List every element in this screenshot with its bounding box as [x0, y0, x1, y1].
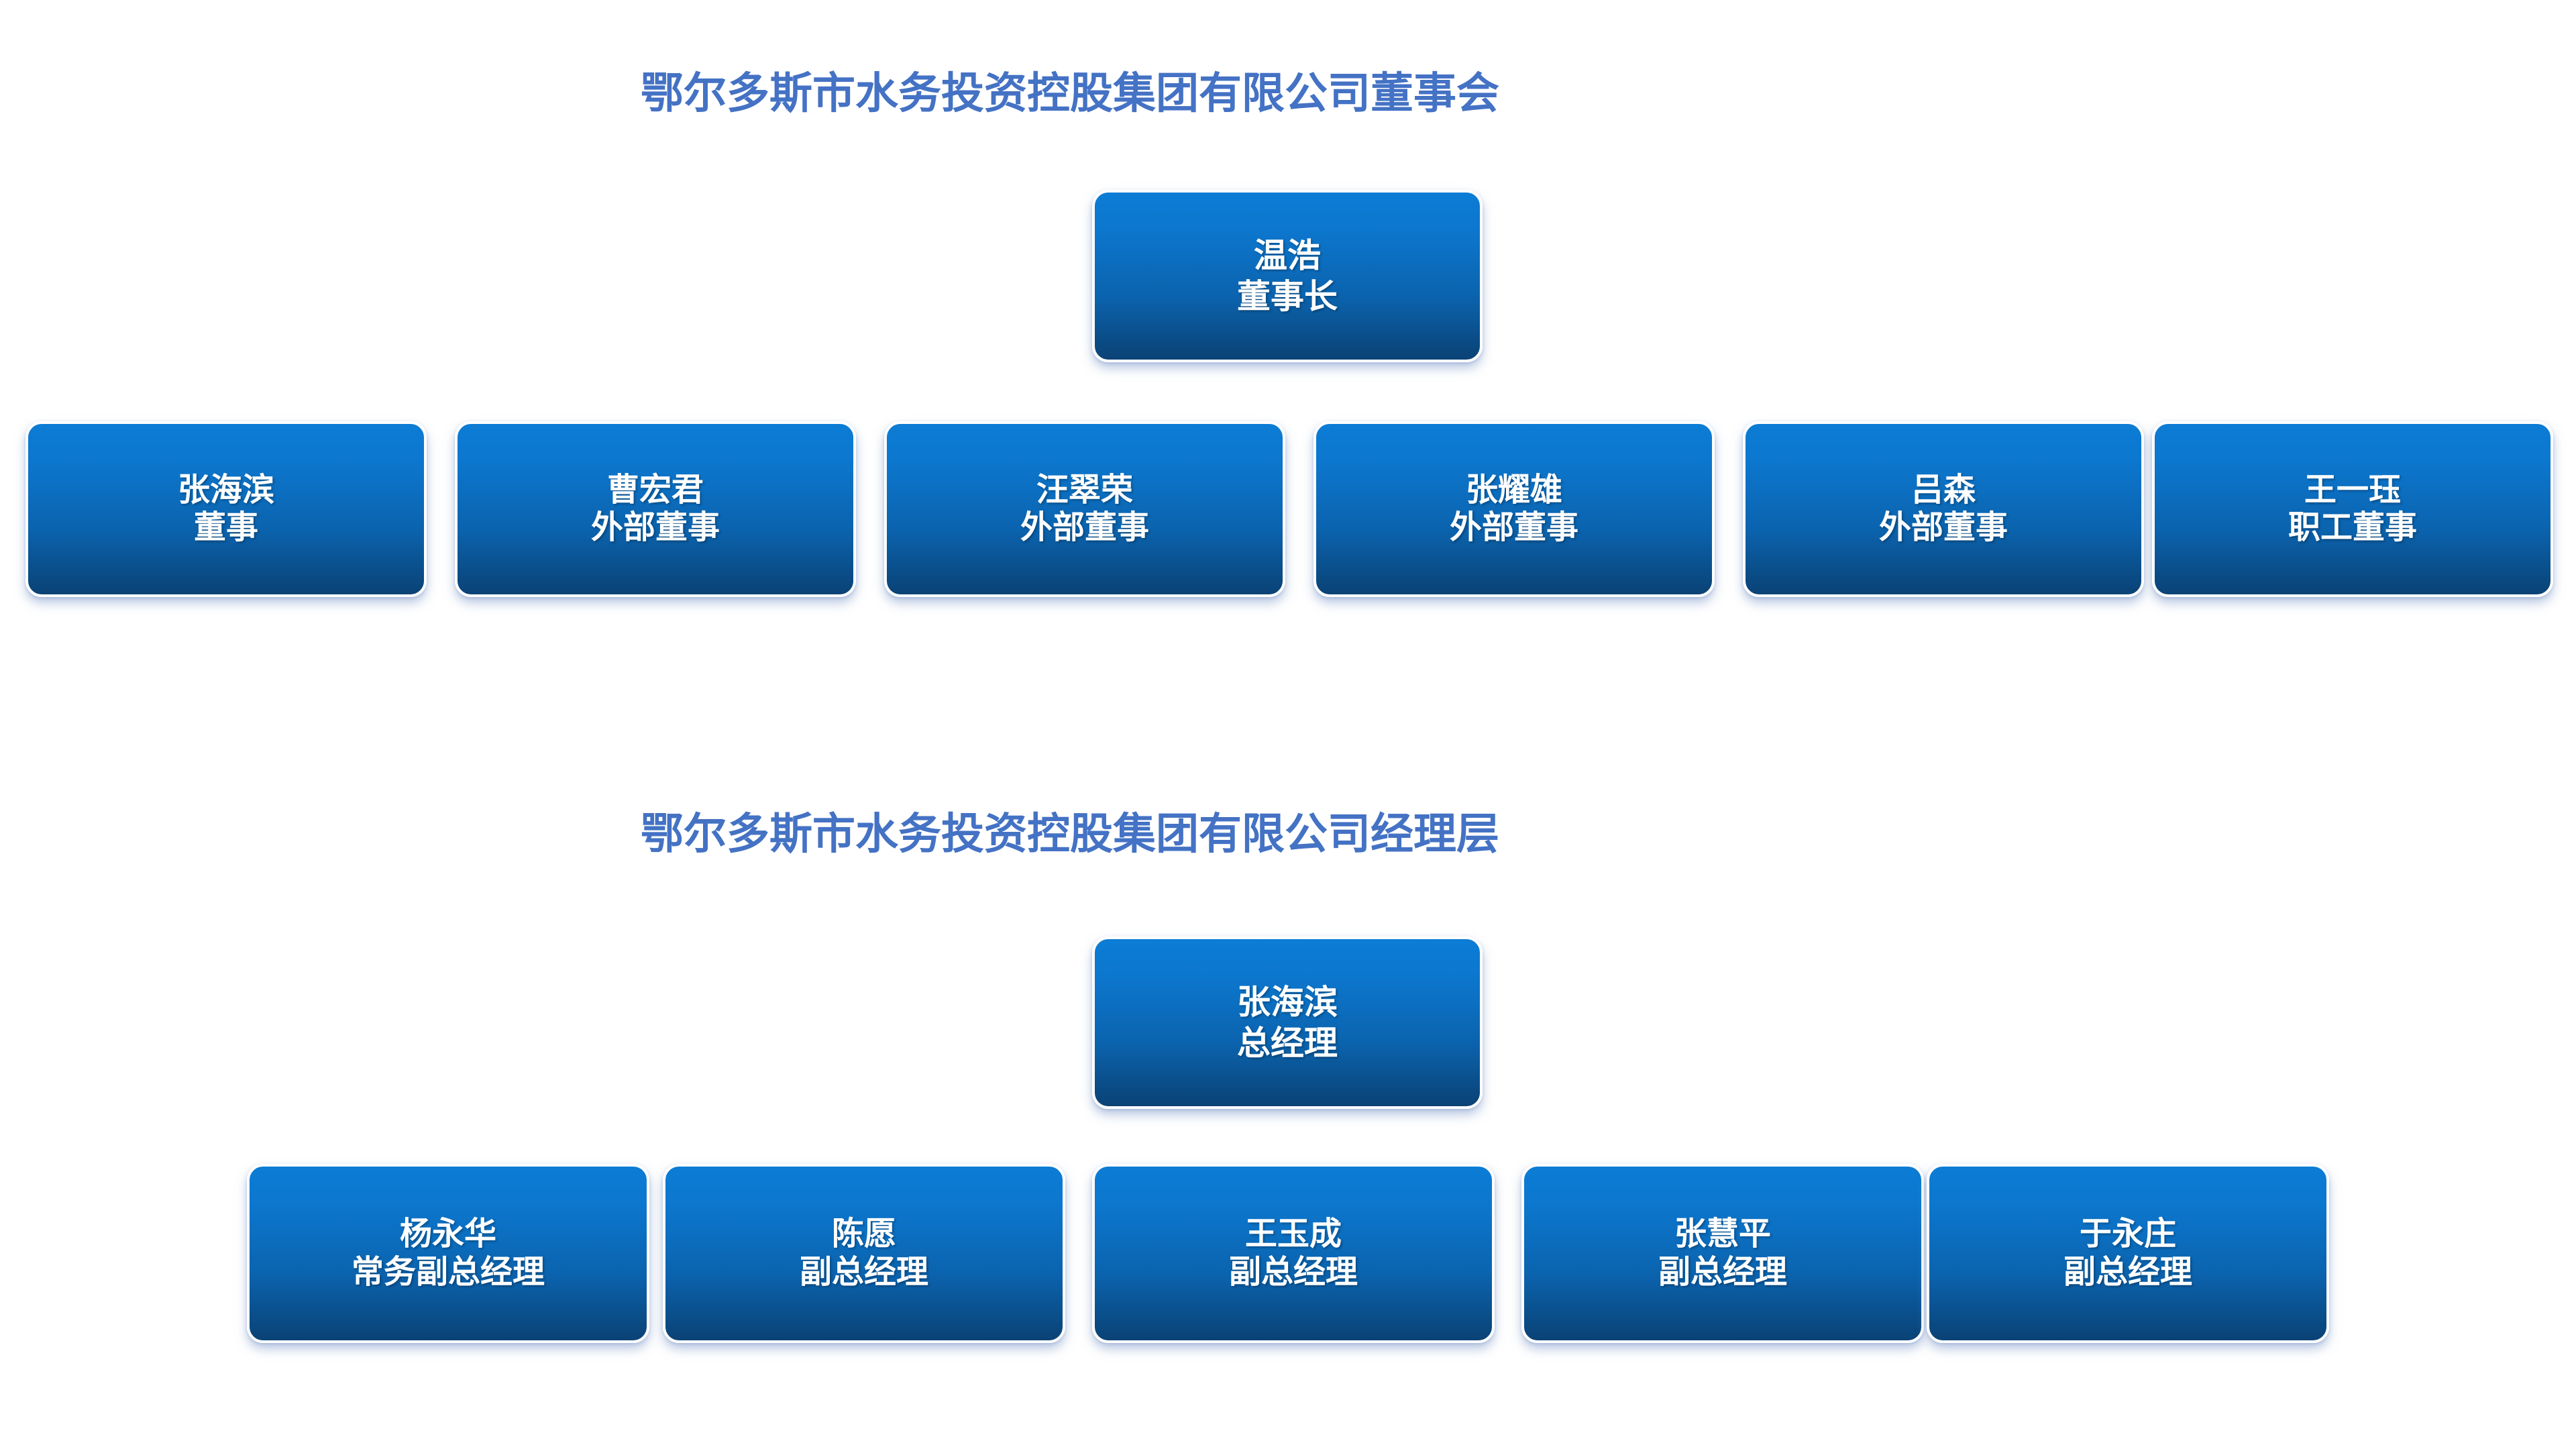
board-section-title: 鄂尔多斯市水务投资控股集团有限公司董事会 [641, 72, 1499, 115]
org-node-director-4[interactable]: 吕森 外部董事 [1743, 421, 2144, 597]
node-role: 副总经理 [2063, 1254, 2192, 1291]
org-node-director-1[interactable]: 曹宏君 外部董事 [455, 421, 856, 597]
node-role: 职工董事 [2288, 509, 2417, 547]
node-name: 曹宏君 [607, 472, 704, 509]
org-node-manager-4[interactable]: 于永庄 副总经理 [1927, 1164, 2329, 1343]
org-node-manager-2[interactable]: 王玉成 副总经理 [1092, 1164, 1495, 1343]
node-name: 张慧平 [1674, 1216, 1771, 1253]
node-name: 杨永华 [400, 1216, 496, 1253]
node-name: 汪翠荣 [1036, 472, 1133, 509]
node-role: 董事长 [1237, 276, 1338, 317]
node-name: 吕森 [1911, 472, 1976, 509]
org-node-general-manager[interactable]: 张海滨 总经理 [1092, 936, 1483, 1109]
node-name: 于永庄 [2080, 1216, 2176, 1253]
node-role: 外部董事 [591, 509, 720, 547]
node-name: 张耀雄 [1466, 472, 1562, 509]
node-name: 张海滨 [178, 472, 274, 509]
node-name: 陈愿 [832, 1216, 896, 1253]
node-name: 王玉成 [1245, 1216, 1342, 1253]
node-role: 外部董事 [1450, 509, 1578, 547]
node-role: 董事 [194, 509, 258, 547]
node-role: 副总经理 [1229, 1254, 1358, 1291]
node-role: 外部董事 [1879, 509, 2008, 547]
node-role: 外部董事 [1020, 509, 1149, 547]
node-name: 张海滨 [1237, 982, 1338, 1023]
org-node-director-5[interactable]: 王一珏 职工董事 [2152, 421, 2553, 597]
org-node-manager-3[interactable]: 张慧平 副总经理 [1521, 1164, 1924, 1343]
node-role: 总经理 [1237, 1023, 1338, 1064]
org-node-manager-0[interactable]: 杨永华 常务副总经理 [247, 1164, 649, 1343]
node-name: 王一珏 [2304, 472, 2401, 509]
org-node-chairman[interactable]: 温浩 董事长 [1092, 190, 1483, 362]
org-node-director-3[interactable]: 张耀雄 外部董事 [1313, 421, 1715, 597]
management-section-title: 鄂尔多斯市水务投资控股集团有限公司经理层 [641, 813, 1499, 856]
org-node-manager-1[interactable]: 陈愿 副总经理 [663, 1164, 1065, 1343]
node-role: 副总经理 [1658, 1254, 1787, 1291]
node-role: 常务副总经理 [352, 1254, 545, 1291]
org-node-director-2[interactable]: 汪翠荣 外部董事 [884, 421, 1285, 597]
node-name: 温浩 [1254, 235, 1321, 276]
org-chart-root: 鄂尔多斯市水务投资控股集团有限公司董事会 温浩 董事长 张海滨 董事 曹宏君 外… [0, 0, 2576, 1449]
org-node-director-0[interactable]: 张海滨 董事 [25, 421, 427, 597]
node-role: 副总经理 [800, 1254, 928, 1291]
